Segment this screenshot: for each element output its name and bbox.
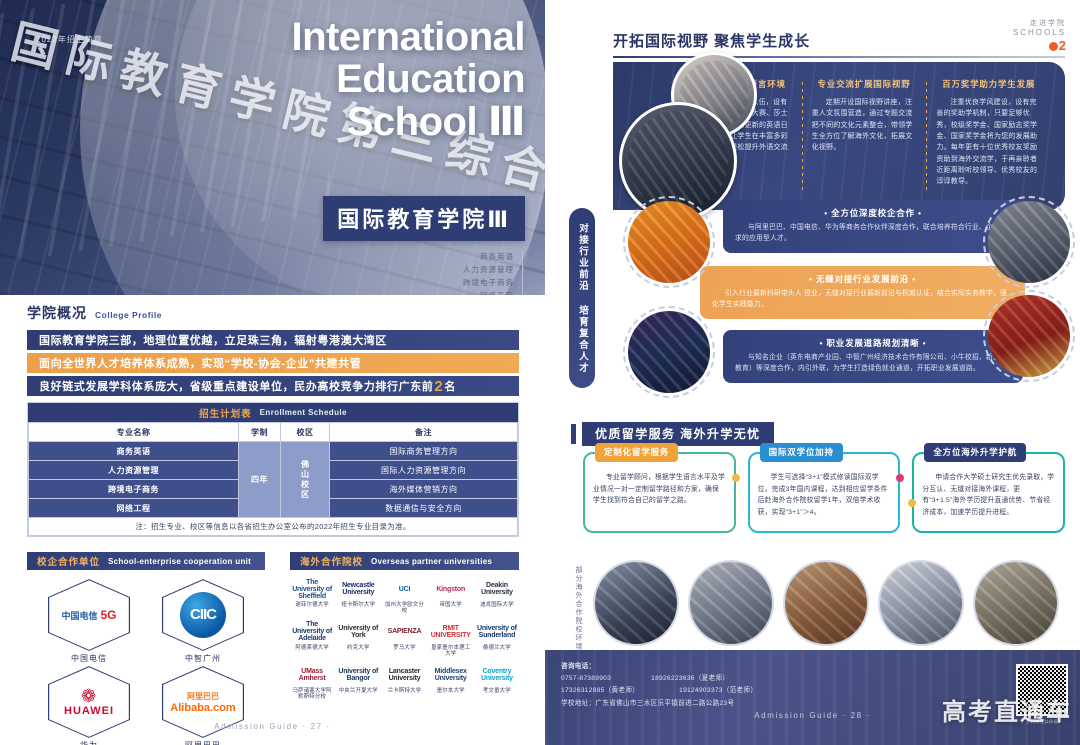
heading-cn: 学院概况 (27, 303, 87, 323)
col-header-remark: 备注 (330, 423, 518, 442)
university-logo-icon: The University of Sheffield (290, 578, 334, 600)
major-item: 网络工程 (463, 289, 514, 295)
university-logo-icon: Middlesex University (429, 664, 473, 686)
section-b-card-3: • 职业发展道路规划清晰 • 与知名企业（英东电商产业园、中智广州经济技术合作有… (723, 330, 1023, 383)
cell-major: 人力资源管理 (29, 461, 239, 480)
university-name: 罗马大学 (382, 645, 426, 651)
university-item: The University of Adelaide阿德莱德大学 (290, 621, 334, 658)
section-b-vertical-label: 对接行业前沿 培育复合人才 (569, 208, 595, 388)
table-note: 注：招生专业、校区等信息以各省招生办公室公布的2022年招生专业目录为准。 (29, 518, 518, 536)
partner-label: 阿里巴巴 (153, 740, 253, 745)
university-name: 皇家墨尔本理工大学 (429, 645, 473, 658)
university-item: SAPIENZA罗马大学 (382, 621, 426, 658)
card-title: • 职业发展道路规划清晰 • (735, 337, 1011, 349)
overseas-heading: 海外合作院校 Overseas partner universities (290, 552, 519, 570)
university-logo-icon: Kingston (429, 578, 473, 600)
cell-major: 网络工程 (29, 499, 239, 518)
ciic-logo-icon: CIIC (180, 592, 226, 638)
table-row: 商务英语 四年 佛山校区 国际商务管理方向 (29, 442, 518, 461)
university-logo-icon: The University of Adelaide (290, 621, 334, 643)
profile-bar-3-text-a: 良好链式发展学科体系庞大，省级重点建设单位，民办高校竞争力排行广东前 (39, 378, 433, 394)
campus-photo-1 (593, 560, 679, 646)
college-profile-section: 学院概况 College Profile 国际教育学院三部，地理位置优越，立足珠… (27, 303, 519, 399)
university-name: 加州大学欧文分校 (382, 602, 426, 615)
card-knob-icon (896, 474, 904, 482)
university-logo-icon: Deakin University (475, 578, 519, 600)
university-name: 约克大学 (336, 645, 380, 651)
university-logo-icon: UCI (382, 578, 426, 600)
logo-sub-text: 阿里巴巴 (170, 691, 235, 702)
university-name: 墨尔本大学 (429, 688, 473, 694)
campus-photo-3 (783, 560, 869, 646)
huawei-logo-icon: ❁HUAWEI (64, 687, 114, 717)
university-item: Deakin University迪肯国际大学 (475, 578, 519, 615)
alibaba-logo-icon: 阿里巴巴 Alibaba.com (170, 691, 235, 714)
heading-accent-bar (571, 424, 576, 444)
university-item: UMass Amherst马萨诸塞大学阿默斯特分校 (290, 664, 334, 701)
table-caption: 招生计划表 Enrollment Schedule (28, 403, 518, 422)
phone-number: 19124903373（范老师） (679, 685, 757, 697)
title-line-2: Education (195, 58, 525, 100)
university-name: 纽卡斯尔大学 (336, 602, 380, 608)
phone-number: 18926223636（夏老师） (651, 673, 729, 685)
university-logo-icon: University of Sunderland (475, 621, 519, 643)
partner-huawei: ❁HUAWEI 华为 (39, 666, 139, 745)
university-name: 帝国大学 (429, 602, 473, 608)
section-a-divider (613, 56, 1065, 58)
study-abroad-card-2: 国际双学位加持 学生可选择“3+1”模式修读国际双学位，完成3年国内课程，达到相… (748, 452, 901, 533)
university-item: Coventry University考文垂大学 (475, 664, 519, 701)
heading-en: College Profile (95, 310, 162, 320)
china-telecom-logo-icon: 中国电信 5G (61, 608, 116, 622)
section-a-heading: 开拓国际视野 聚焦学生成长 (613, 30, 1065, 51)
profile-bar-1: 国际教育学院三部，地理位置优越，立足珠三角，辐射粤港澳大湾区 (27, 330, 519, 350)
logo-mark-text: 中国电信 (61, 609, 97, 622)
university-logo-grid: The University of Sheffield谢菲尔德大学Newcast… (290, 578, 519, 701)
major-item: 商务英语 (463, 250, 514, 263)
campus-photo-4 (878, 560, 964, 646)
university-logo-icon: University of Bangor (336, 664, 380, 686)
card-body: 与知名企业（英东电商产业园、中智广州经济技术合作有限公司、小牛校招、新思路教育）… (735, 353, 1011, 375)
table-note-row: 注：招生专业、校区等信息以各省招生办公室公布的2022年招生专业目录为准。 (29, 518, 518, 536)
hero-major-list: 商务英语 人力资源管理 跨境电子商务 网络工程 (463, 250, 523, 295)
cooperation-section: 校企合作单位 School-enterprise cooperation uni… (27, 552, 265, 745)
study-abroad-card-3: 全方位海外升学护航 申请合作大学硕士研究生优先录取，学分互认、无缝对接海外课程，… (912, 452, 1065, 533)
university-logo-icon: UMass Amherst (290, 664, 334, 686)
university-logo-icon: Newcastle University (336, 578, 380, 600)
card-tag: 定制化留学服务 (595, 443, 678, 462)
university-logo-icon: Lancaster University (382, 664, 426, 686)
card-ring-border (583, 452, 736, 533)
school-address: 学校地址：广东省佛山市三水区乐平镇前进二路公路23号 (561, 698, 757, 710)
partner-hex-grid: 中国电信 5G 中国电信 CIIC 中智广州 (27, 579, 265, 745)
profile-bar-2: 面向全世界人才培养体系成熟，实现“学校-协会-企业”共建共管 (27, 353, 519, 373)
partner-ciic: CIIC 中智广州 (153, 579, 253, 664)
profile-bar-3: 良好链式发展学科体系庞大，省级重点建设单位，民办高校竞争力排行广东前2名 (27, 376, 519, 396)
card-tag: 国际双学位加持 (760, 443, 843, 462)
section-d-vertical-label: 部分海外合作院校环境 (569, 562, 583, 654)
page-right: 走进学院 SCHOOLS2 开拓国际视野 聚焦学生成长 寓教于乐丰富语言环境 拥… (545, 0, 1080, 745)
table-caption-en: Enrollment Schedule (260, 408, 347, 417)
university-item: Kingston帝国大学 (429, 578, 473, 615)
page-title: International Education School Ⅲ (195, 16, 525, 143)
university-item: The University of Sheffield谢菲尔德大学 (290, 578, 334, 615)
table-header-row: 专业名称 学制 校区 备注 (29, 423, 518, 442)
section-a-column-3: 百万奖学助力学生发展 注重优良学风建设，设有完善的奖助学机制，只要足够优秀，校级… (926, 78, 1051, 198)
university-name: 中央兰开夏大学 (336, 688, 380, 694)
partner-alibaba: 阿里巴巴 Alibaba.com 阿里巴巴 (153, 666, 253, 745)
heading-en: School-enterprise cooperation unit (108, 557, 251, 566)
page-title-cn: 国际教育学院Ⅲ (323, 196, 525, 241)
logo-cn-text: 走进学院 (1013, 18, 1066, 28)
university-item: Lancaster University兰卡斯特大学 (382, 664, 426, 701)
university-name: 考文垂大学 (475, 688, 519, 694)
photo-signing-ceremony (983, 196, 1075, 288)
cell-remark: 海外媒体营销方向 (330, 480, 518, 499)
title-line-1: International (195, 16, 525, 58)
folio-left: Admission Guide · 27 · (0, 722, 545, 731)
folio-right: Admission Guide · 28 · (545, 711, 1080, 720)
cell-remark: 国际商务管理方向 (330, 442, 518, 461)
university-name: 迪肯国际大学 (475, 602, 519, 608)
column-title: 专业交流扩展国际视野 (812, 78, 917, 90)
partner-china-telecom: 中国电信 5G 中国电信 (39, 579, 139, 664)
card-tag: 全方位海外升学护航 (924, 443, 1026, 462)
study-abroad-cards: 定制化留学服务 专业留学顾问，根据学生语言水平及学业情况一对一定制留学路径和方案… (583, 452, 1065, 533)
enrollment-schedule-table: 招生计划表 Enrollment Schedule 专业名称 学制 校区 备注 … (27, 402, 519, 537)
cooperation-heading: 校企合作单位 School-enterprise cooperation uni… (27, 552, 265, 570)
university-name: 谢菲尔德大学 (290, 602, 334, 608)
heading-cn: 校企合作单位 (37, 554, 100, 568)
partner-label: 华为 (39, 740, 139, 745)
phone-row-2: 17326312885（黄老师） 19124903373（范老师） (561, 685, 757, 697)
section-b-card-2: • 无缝对接行业发展前沿 • 引入行业最新科研带头人 授业，无缝对接行业最新前沿… (700, 266, 1025, 319)
section-b-card-1: • 全方位深度校企合作 • 与阿里巴巴、中国电信、华为等商务合作伙伴深度合作，联… (723, 200, 1023, 253)
university-item: Middlesex University墨尔本大学 (429, 664, 473, 701)
campus-photo-5 (973, 560, 1059, 646)
campus-photo-row (593, 560, 1065, 646)
university-item: RMIT UNIVERSITY皇家墨尔本理工大学 (429, 621, 473, 658)
logo-sub-text: 5G (101, 608, 117, 622)
table-caption-cn: 招生计划表 (199, 406, 252, 420)
contact-block: 咨询电话： 0757-87389903 18926223636（夏老师） 173… (561, 661, 757, 710)
photo-group-ceremony (623, 306, 715, 398)
cell-years: 四年 (239, 442, 281, 518)
card-knob-icon (732, 474, 740, 482)
column-body: 定期开设国际视野讲座，注重人文氛围营造，通过专题交流把不同的文化元素整合，带领学… (812, 97, 917, 154)
cell-major: 跨境电子商务 (29, 480, 239, 499)
phone-number: 0757-87389903 (561, 673, 611, 685)
card-ring-border (912, 452, 1065, 533)
card-body: 与阿里巴巴、中国电信、华为等商务合作伙伴深度合作，联合培养符合行业、企业需求的应… (735, 223, 1011, 245)
photo-award-presentation (983, 290, 1075, 382)
university-item: UCI加州大学欧文分校 (382, 578, 426, 615)
partner-label: 中智广州 (153, 653, 253, 664)
hero-banner: 国际教育学院第三综合楼 2022年招生简章 International Educ… (0, 0, 545, 295)
profile-bar-3-text-b: 名 (444, 378, 456, 394)
university-name: 桑德兰大学 (475, 645, 519, 651)
major-item: 跨境电子商务 (463, 276, 514, 289)
heading-en: Overseas partner universities (371, 557, 492, 566)
column-body: 注重优良学风建设，设有完善的奖助学机制，只要足够优秀，校级奖学金、国家励志奖学金… (936, 97, 1041, 188)
edition-tag: 2022年招生简章 (36, 34, 103, 45)
phone-row-1: 0757-87389903 18926223636（夏老师） (561, 673, 757, 685)
col-header-years: 学制 (239, 423, 281, 442)
cell-remark: 数据通信与安全方向 (330, 499, 518, 518)
card-title: • 无缝对接行业发展前沿 • (712, 273, 1013, 285)
university-name: 马萨诸塞大学阿默斯特分校 (290, 688, 334, 701)
profile-bar-3-rank: 2 (433, 378, 444, 395)
university-logo-icon: RMIT UNIVERSITY (429, 621, 473, 643)
logo-mark-text: Alibaba.com (170, 702, 235, 714)
page-left: 国际教育学院第三综合楼 2022年招生简章 International Educ… (0, 0, 545, 745)
university-item: University of York约克大学 (336, 621, 380, 658)
profile-bar-2-text: 面向全世界人才培养体系成熟，实现“学校-协会-企业”共建共管 (39, 355, 361, 371)
university-name: 兰卡斯特大学 (382, 688, 426, 694)
phone-number: 17326312885（黄老师） (561, 685, 639, 697)
university-item: University of Bangor中央兰开夏大学 (336, 664, 380, 701)
university-logo-icon: University of York (336, 621, 380, 643)
major-item: 人力资源管理 (463, 263, 514, 276)
huawei-petal-mark: ❁ (64, 687, 114, 705)
photo-alibaba-event (623, 196, 715, 288)
profile-bar-1-text: 国际教育学院三部，地理位置优越，立足珠三角，辐射粤港澳大湾区 (39, 332, 387, 348)
cell-remark: 国际人力资源管理方向 (330, 461, 518, 480)
brochure-spread: 国际教育学院第三综合楼 2022年招生简章 International Educ… (0, 0, 1080, 745)
overseas-universities-section: 海外合作院校 Overseas partner universities The… (290, 552, 519, 701)
cell-campus: 佛山校区 (281, 442, 330, 518)
card-title: • 全方位深度校企合作 • (735, 207, 1011, 219)
cell-major: 商务英语 (29, 442, 239, 461)
hexagon-frame: 中国电信 5G (48, 579, 130, 651)
partner-label: 中国电信 (39, 653, 139, 664)
card-body: 引入行业最新科研带头人 授业，无缝对接行业最新前沿与权威认证，结合实际实务教学，… (712, 289, 1013, 311)
col-header-major: 专业名称 (29, 423, 239, 442)
university-logo-icon: Coventry University (475, 664, 519, 686)
heading-cn: 海外合作院校 (300, 554, 363, 568)
university-item: Newcastle University纽卡斯尔大学 (336, 578, 380, 615)
contact-title: 咨询电话： (561, 661, 757, 673)
university-logo-icon: SAPIENZA (382, 621, 426, 643)
title-line-3: School Ⅲ (195, 101, 525, 143)
study-abroad-card-1: 定制化留学服务 专业留学顾问，根据学生语言水平及学业情况一对一定制留学路径和方案… (583, 452, 736, 533)
hexagon-frame: CIIC (162, 579, 244, 651)
col-header-campus: 校区 (281, 423, 330, 442)
college-profile-heading: 学院概况 College Profile (27, 303, 519, 323)
right-page-footer: 咨询电话： 0757-87389903 18926223636（夏老师） 173… (545, 650, 1080, 745)
logo-mark-text: HUAWEI (64, 705, 114, 717)
section-a-column-2: 专业交流扩展国际视野 定期开设国际视野讲座，注重人文氛围营造，通过专题交流把不同… (802, 78, 927, 198)
watermark: 高考直通车 (942, 692, 1072, 727)
university-item: University of Sunderland桑德兰大学 (475, 621, 519, 658)
column-title: 百万奖学助力学生发展 (936, 78, 1041, 90)
campus-photo-2 (688, 560, 774, 646)
university-name: 阿德莱德大学 (290, 645, 334, 651)
logo-mark-text: CIIC (180, 592, 226, 638)
card-ring-border (748, 452, 901, 533)
section-international-vision: 开拓国际视野 聚焦学生成长 寓教于乐丰富语言环境 拥有国际化师资队伍，设有英语角… (613, 30, 1065, 210)
